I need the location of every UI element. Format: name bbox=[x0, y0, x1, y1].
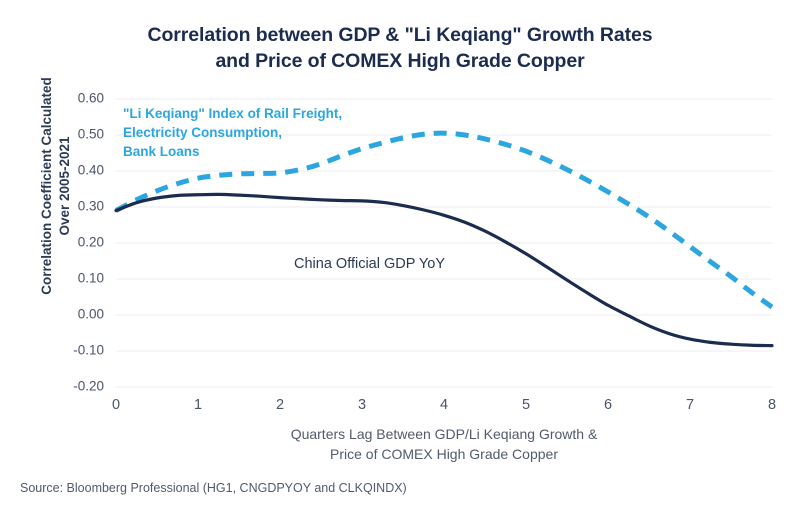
y-tick-label: 0.00 bbox=[78, 307, 104, 322]
y-tick-label: -0.20 bbox=[73, 379, 104, 394]
source-note: Source: Bloomberg Professional (HG1, CNG… bbox=[20, 481, 407, 495]
chart-figure: Correlation between GDP & "Li Keqiang" G… bbox=[0, 0, 800, 511]
x-tick-label: 5 bbox=[522, 397, 530, 413]
y-tick-label: 0.20 bbox=[78, 235, 104, 250]
annotation-li-keqiang-line-1: "Li Keqiang" Index of Rail Freight, bbox=[123, 104, 342, 123]
x-tick-labels-group: 012345678 bbox=[112, 397, 776, 413]
y-tick-label: -0.10 bbox=[73, 343, 104, 358]
y-tick-label: 0.50 bbox=[78, 127, 104, 142]
y-tick-label: 0.30 bbox=[78, 199, 104, 214]
annotation-li-keqiang-line-3: Bank Loans bbox=[123, 142, 342, 161]
x-tick-label: 1 bbox=[194, 397, 202, 413]
x-tick-label: 0 bbox=[112, 397, 120, 413]
y-tick-label: 0.10 bbox=[78, 271, 104, 286]
x-tick-label: 3 bbox=[358, 397, 366, 413]
y-tick-label: 0.60 bbox=[78, 91, 104, 106]
x-tick-label: 2 bbox=[276, 397, 284, 413]
x-tick-label: 8 bbox=[768, 397, 776, 413]
x-axis-label-line-2: Price of COMEX High Grade Copper bbox=[116, 444, 772, 464]
y-tick-label: 0.40 bbox=[78, 163, 104, 178]
y-tick-labels-group: 0.600.500.400.300.200.100.00-0.10-0.20 bbox=[73, 91, 104, 394]
x-axis-label-line-1: Quarters Lag Between GDP/Li Keqiang Grow… bbox=[116, 424, 772, 444]
x-tick-label: 4 bbox=[440, 397, 448, 413]
x-axis-label: Quarters Lag Between GDP/Li Keqiang Grow… bbox=[116, 424, 772, 464]
y-axis-label: Correlation Coefficient Calculated Over … bbox=[38, 36, 74, 336]
x-tick-label: 7 bbox=[686, 397, 694, 413]
x-tick-label: 6 bbox=[604, 397, 612, 413]
y-axis-label-line-2: Over 2005-2021 bbox=[56, 36, 74, 336]
annotation-li-keqiang: "Li Keqiang" Index of Rail Freight, Elec… bbox=[123, 104, 342, 161]
annotation-li-keqiang-line-2: Electricity Consumption, bbox=[123, 123, 342, 142]
annotation-china-gdp: China Official GDP YoY bbox=[294, 255, 445, 273]
y-axis-label-line-1: Correlation Coefficient Calculated bbox=[38, 36, 56, 336]
